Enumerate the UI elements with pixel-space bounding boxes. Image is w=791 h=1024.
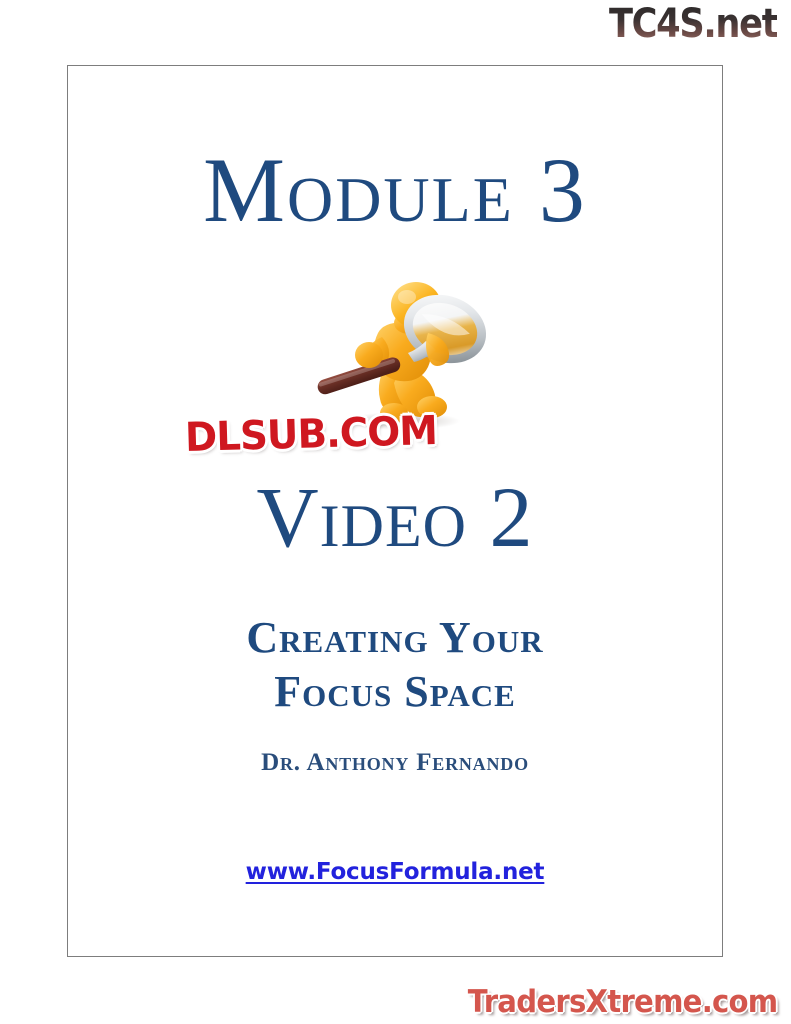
watermark-top-right: TC4S.net	[609, 4, 777, 44]
page-title: Module 3	[68, 144, 722, 236]
magnifying-glass-person-icon	[290, 271, 500, 431]
video-number-label: Video 2	[68, 474, 722, 560]
website-link[interactable]: www.FocusFormula.net	[246, 859, 545, 885]
website-link-container: www.FocusFormula.net	[68, 861, 722, 884]
author-name: Dr. Anthony Fernando	[68, 750, 722, 775]
watermark-bottom-right: TradersXtreme.com	[467, 987, 777, 1018]
subtitle-line-2: Focus Space	[68, 665, 722, 719]
subtitle-line-1: Creating Your	[68, 611, 722, 665]
watermark-overlay: DLSUB.COM	[184, 411, 437, 458]
document-page: Module 3	[67, 65, 723, 957]
page-subtitle: Creating Your Focus Space	[68, 611, 722, 718]
